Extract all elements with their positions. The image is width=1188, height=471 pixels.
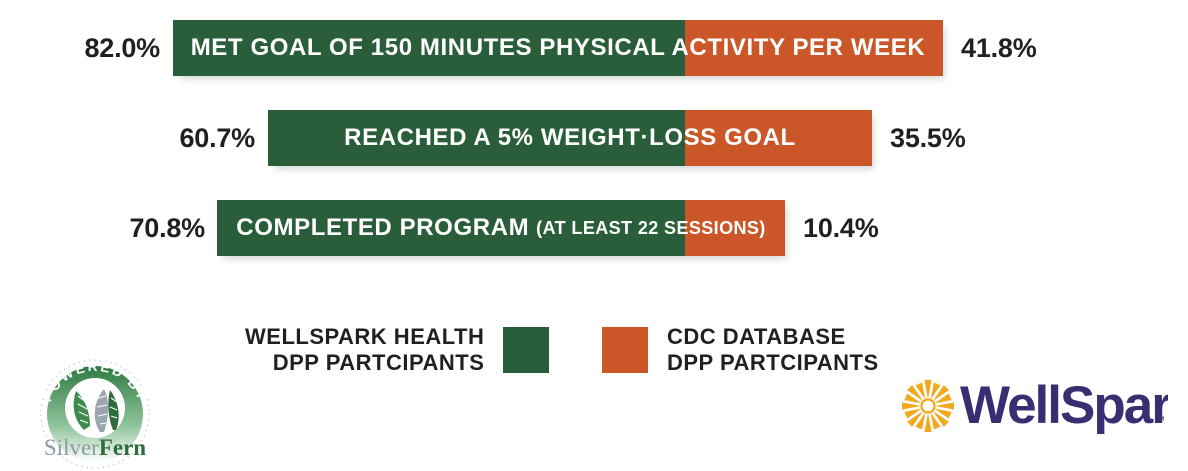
- sunburst-icon: [902, 380, 954, 432]
- bar-value-left: 60.7%: [155, 110, 255, 166]
- bar-track: REACHED A 5% WEIGHT·LOSS GOAL: [268, 110, 872, 166]
- bar-label: COMPLETED PROGRAM (AT LEAST 22 SESSIONS): [217, 200, 785, 256]
- wellspark-logo: WellSpark ™: [898, 372, 1168, 440]
- bar-value-left: 70.8%: [105, 200, 205, 256]
- bar-label-sub: (AT LEAST 22 SESSIONS): [536, 218, 766, 239]
- bar-label: MET GOAL OF 150 MINUTES PHYSICAL ACTIVIT…: [173, 20, 943, 76]
- legend-label-cdc: CDC DATABASE DPP PARTCIPANTS: [667, 324, 879, 376]
- bar-row: 70.8% COMPLETED PROGRAM (AT LEAST 22 SES…: [0, 200, 1188, 256]
- bar-label-main: COMPLETED PROGRAM: [236, 214, 529, 242]
- bar-track: MET GOAL OF 150 MINUTES PHYSICAL ACTIVIT…: [173, 20, 943, 76]
- bar-value-right: 10.4%: [803, 200, 923, 256]
- bar-value-right: 41.8%: [961, 20, 1081, 76]
- bar-value-right: 35.5%: [890, 110, 1010, 166]
- bar-track: COMPLETED PROGRAM (AT LEAST 22 SESSIONS): [217, 200, 785, 256]
- legend-label-line1: WELLSPARK HEALTH: [245, 324, 484, 350]
- bar-value-left: 82.0%: [60, 20, 160, 76]
- bar-label-main: REACHED A 5% WEIGHT·LOSS GOAL: [344, 124, 796, 152]
- legend-label-wellspark: WELLSPARK HEALTH DPP PARTCIPANTS: [245, 324, 484, 376]
- diverging-bar-chart: 82.0% MET GOAL OF 150 MINUTES PHYSICAL A…: [0, 0, 1188, 300]
- badge-wordmark: SilverFern: [44, 435, 146, 460]
- bar-row: 82.0% MET GOAL OF 150 MINUTES PHYSICAL A…: [0, 20, 1188, 76]
- bar-row: 60.7% REACHED A 5% WEIGHT·LOSS GOAL 35.5…: [0, 110, 1188, 166]
- legend-swatch-green: [503, 327, 549, 373]
- legend-entry-wellspark: WELLSPARK HEALTH DPP PARTCIPANTS: [245, 316, 549, 384]
- legend-entry-cdc: CDC DATABASE DPP PARTCIPANTS: [602, 316, 879, 384]
- wellspark-wordmark: WellSpark: [960, 376, 1168, 435]
- legend-label-line2: DPP PARTCIPANTS: [667, 350, 879, 376]
- bar-label: REACHED A 5% WEIGHT·LOSS GOAL: [268, 110, 872, 166]
- legend-label-line2: DPP PARTCIPANTS: [245, 350, 484, 376]
- legend-label-line1: CDC DATABASE: [667, 324, 879, 350]
- legend-swatch-orange: [602, 327, 648, 373]
- wellspark-trademark: ™: [1154, 415, 1165, 427]
- silverfern-logo: POWERED BY SilverFern: [24, 358, 166, 470]
- bar-label-main: MET GOAL OF 150 MINUTES PHYSICAL ACTIVIT…: [191, 34, 926, 62]
